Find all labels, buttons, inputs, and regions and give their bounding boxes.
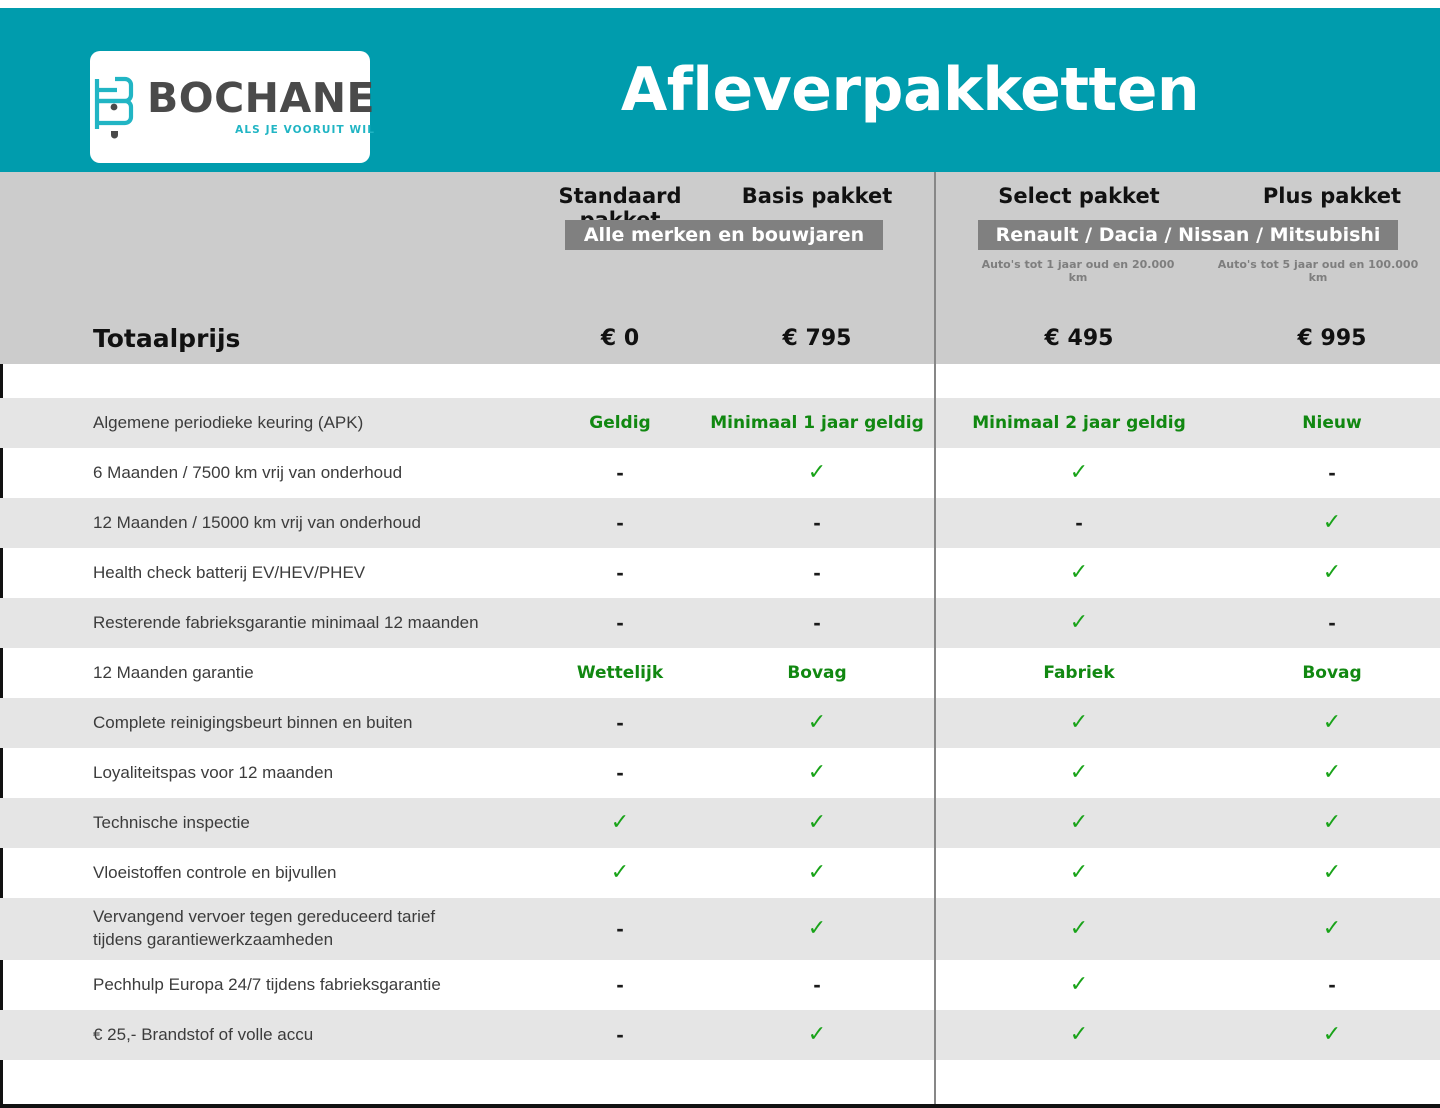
page-banner: BOCHANE ALS JE VOORUIT WIL Afleverpakket… — [0, 8, 1440, 172]
table-row: 6 Maanden / 7500 km vrij van onderhoud-✓… — [0, 448, 1440, 498]
dash-icon: - — [1328, 974, 1335, 996]
cell-value: ✓ — [700, 798, 934, 848]
group-bar-alle-merken: Alle merken en bouwjaren — [565, 220, 883, 250]
check-icon: ✓ — [1070, 862, 1088, 884]
total-price-basis: € 795 — [700, 326, 934, 351]
cell-value: - — [1224, 598, 1440, 648]
cell-value: ✓ — [700, 698, 934, 748]
check-icon: ✓ — [1323, 812, 1341, 834]
dash-icon: - — [1328, 462, 1335, 484]
bochane-b-mark-icon — [85, 74, 137, 140]
cell-value: Nieuw — [1224, 398, 1440, 448]
cell-value: ✓ — [934, 448, 1224, 498]
cell-value: ✓ — [700, 748, 934, 798]
page-title: Afleverpakketten — [380, 8, 1440, 172]
dash-icon: - — [616, 712, 623, 734]
dash-icon: - — [616, 1024, 623, 1046]
check-icon: ✓ — [611, 812, 629, 834]
dash-icon: - — [616, 462, 623, 484]
cell-value: ✓ — [540, 848, 700, 898]
brand-wordmark: BOCHANE ALS JE VOORUIT WIL — [147, 78, 375, 136]
check-icon: ✓ — [808, 1024, 826, 1046]
check-icon: ✓ — [1070, 918, 1088, 940]
dash-icon: - — [616, 974, 623, 996]
check-icon: ✓ — [1323, 1024, 1341, 1046]
dash-icon: - — [1328, 612, 1335, 634]
brand-name: BOCHANE — [147, 78, 375, 119]
check-icon: ✓ — [1070, 1024, 1088, 1046]
table-row: Health check batterij EV/HEV/PHEV--✓✓ — [0, 548, 1440, 598]
value-text: Minimaal 1 jaar geldig — [710, 413, 924, 433]
check-icon: ✓ — [1070, 562, 1088, 584]
total-price-row: Totaalprijs € 0 € 795 € 495 € 995 — [0, 312, 1440, 364]
column-header-plus: Plus pakket — [1224, 184, 1440, 208]
cell-value: - — [540, 548, 700, 598]
table-footer-row — [0, 1060, 1440, 1104]
cell-value: - — [540, 1010, 700, 1060]
cell-value: ✓ — [934, 698, 1224, 748]
check-icon: ✓ — [808, 712, 826, 734]
cell-value: ✓ — [700, 898, 934, 960]
cell-value: - — [540, 498, 700, 548]
cell-value: - — [540, 960, 700, 1010]
brand-tagline: ALS JE VOORUIT WIL — [235, 125, 375, 136]
table-row: Vloeistoffen controle en bijvullen✓✓✓✓ — [0, 848, 1440, 898]
dash-icon: - — [1075, 512, 1082, 534]
check-icon: ✓ — [808, 762, 826, 784]
check-icon: ✓ — [808, 918, 826, 940]
cell-value: ✓ — [700, 448, 934, 498]
table-row: Technische inspectie✓✓✓✓ — [0, 798, 1440, 848]
check-icon: ✓ — [1323, 512, 1341, 534]
cell-value: - — [700, 498, 934, 548]
cell-value: - — [540, 898, 700, 960]
row-label: 12 Maanden / 15000 km vrij van onderhoud — [0, 498, 540, 548]
row-label: Complete reinigingsbeurt binnen en buite… — [0, 698, 540, 748]
cell-value: ✓ — [1224, 798, 1440, 848]
cell-value: ✓ — [1224, 1010, 1440, 1060]
dash-icon: - — [813, 512, 820, 534]
cell-value: ✓ — [934, 548, 1224, 598]
cell-value: - — [540, 448, 700, 498]
column-note-select: Auto's tot 1 jaar oud en 20.000 km — [978, 258, 1178, 284]
value-text: Fabriek — [1043, 663, 1114, 683]
dash-icon: - — [616, 612, 623, 634]
table-row: Vervangend vervoer tegen gereduceerd tar… — [0, 898, 1440, 960]
cell-value: ✓ — [1224, 848, 1440, 898]
table-row: Resterende fabrieksgarantie minimaal 12 … — [0, 598, 1440, 648]
cell-value: - — [1224, 448, 1440, 498]
header-spacer-row — [0, 364, 1440, 398]
cell-value: Geldig — [540, 398, 700, 448]
cell-value: Bovag — [700, 648, 934, 698]
cell-value: ✓ — [934, 848, 1224, 898]
total-price-plus: € 995 — [1224, 326, 1440, 351]
cell-value: Minimaal 1 jaar geldig — [700, 398, 934, 448]
cell-value: ✓ — [934, 598, 1224, 648]
row-label: Resterende fabrieksgarantie minimaal 12 … — [0, 598, 540, 648]
dash-icon: - — [616, 562, 623, 584]
value-text: Nieuw — [1302, 413, 1361, 433]
check-icon: ✓ — [1070, 612, 1088, 634]
dash-icon: - — [616, 918, 623, 940]
cell-value: ✓ — [934, 1010, 1224, 1060]
table-row: Complete reinigingsbeurt binnen en buite… — [0, 698, 1440, 748]
check-icon: ✓ — [1070, 712, 1088, 734]
row-label: Vervangend vervoer tegen gereduceerd tar… — [0, 898, 540, 960]
table-header: Standaard pakket Basis pakket Select pak… — [0, 172, 1440, 312]
check-icon: ✓ — [1070, 762, 1088, 784]
row-label: 12 Maanden garantie — [0, 648, 540, 698]
cell-value: ✓ — [1224, 498, 1440, 548]
table-row: Loyaliteitspas voor 12 maanden-✓✓✓ — [0, 748, 1440, 798]
dash-icon: - — [813, 562, 820, 584]
cell-value: ✓ — [934, 898, 1224, 960]
cell-value: - — [540, 598, 700, 648]
row-label: Algemene periodieke keuring (APK) — [0, 398, 540, 448]
check-icon: ✓ — [1070, 974, 1088, 996]
packages-table: Standaard pakket Basis pakket Select pak… — [0, 172, 1440, 1108]
check-icon: ✓ — [611, 862, 629, 884]
check-icon: ✓ — [808, 812, 826, 834]
check-icon: ✓ — [1070, 812, 1088, 834]
dash-icon: - — [616, 762, 623, 784]
cell-value: ✓ — [1224, 748, 1440, 798]
value-text: Wettelijk — [577, 663, 663, 683]
cell-value: ✓ — [540, 798, 700, 848]
value-text: Geldig — [589, 413, 650, 433]
total-price-standaard: € 0 — [540, 326, 700, 351]
dash-icon: - — [616, 512, 623, 534]
table-row: 12 Maanden / 15000 km vrij van onderhoud… — [0, 498, 1440, 548]
check-icon: ✓ — [1070, 462, 1088, 484]
cell-value: Wettelijk — [540, 648, 700, 698]
row-label: 6 Maanden / 7500 km vrij van onderhoud — [0, 448, 540, 498]
cell-value: - — [1224, 960, 1440, 1010]
cell-value: Minimaal 2 jaar geldig — [934, 398, 1224, 448]
check-icon: ✓ — [1323, 862, 1341, 884]
cell-value: ✓ — [934, 748, 1224, 798]
cell-value: Bovag — [1224, 648, 1440, 698]
check-icon: ✓ — [1323, 918, 1341, 940]
cell-value: - — [934, 498, 1224, 548]
value-text: Minimaal 2 jaar geldig — [972, 413, 1186, 433]
cell-value: - — [700, 598, 934, 648]
row-label: Pechhulp Europa 24/7 tijdens fabrieksgar… — [0, 960, 540, 1010]
cell-value: ✓ — [934, 798, 1224, 848]
dash-icon: - — [813, 974, 820, 996]
cell-value: ✓ — [700, 848, 934, 898]
cell-value: ✓ — [1224, 548, 1440, 598]
cell-value: ✓ — [1224, 898, 1440, 960]
check-icon: ✓ — [808, 462, 826, 484]
page-root: BOCHANE ALS JE VOORUIT WIL Afleverpakket… — [0, 0, 1440, 1080]
column-header-select: Select pakket — [934, 184, 1224, 208]
cell-value: ✓ — [934, 960, 1224, 1010]
row-label: Vloeistoffen controle en bijvullen — [0, 848, 540, 898]
check-icon: ✓ — [1323, 562, 1341, 584]
brand-logo: BOCHANE ALS JE VOORUIT WIL — [90, 51, 370, 163]
table-row: € 25,- Brandstof of volle accu-✓✓✓ — [0, 1010, 1440, 1060]
table-row: Pechhulp Europa 24/7 tijdens fabrieksgar… — [0, 960, 1440, 1010]
check-icon: ✓ — [1323, 762, 1341, 784]
total-price-label: Totaalprijs — [0, 324, 540, 353]
row-label: € 25,- Brandstof of volle accu — [0, 1010, 540, 1060]
check-icon: ✓ — [1323, 712, 1341, 734]
cell-value: - — [540, 698, 700, 748]
cell-value: - — [540, 748, 700, 798]
value-text: Bovag — [1302, 663, 1361, 683]
group-bar-renault-dacia-nissan-mitsubishi: Renault / Dacia / Nissan / Mitsubishi — [978, 220, 1398, 250]
total-price-select: € 495 — [934, 326, 1224, 351]
column-note-plus: Auto's tot 5 jaar oud en 100.000 km — [1212, 258, 1424, 284]
table-row: 12 Maanden garantieWettelijkBovagFabriek… — [0, 648, 1440, 698]
table-row: Algemene periodieke keuring (APK)GeldigM… — [0, 398, 1440, 448]
cell-value: ✓ — [700, 1010, 934, 1060]
check-icon: ✓ — [808, 862, 826, 884]
cell-value: ✓ — [1224, 698, 1440, 748]
feature-rows: Algemene periodieke keuring (APK)GeldigM… — [0, 398, 1440, 1060]
value-text: Bovag — [787, 663, 846, 683]
row-label: Technische inspectie — [0, 798, 540, 848]
cell-value: Fabriek — [934, 648, 1224, 698]
row-label: Loyaliteitspas voor 12 maanden — [0, 748, 540, 798]
row-label: Health check batterij EV/HEV/PHEV — [0, 548, 540, 598]
cell-value: - — [700, 960, 934, 1010]
column-header-basis: Basis pakket — [700, 184, 934, 208]
cell-value: - — [700, 548, 934, 598]
dash-icon: - — [813, 612, 820, 634]
